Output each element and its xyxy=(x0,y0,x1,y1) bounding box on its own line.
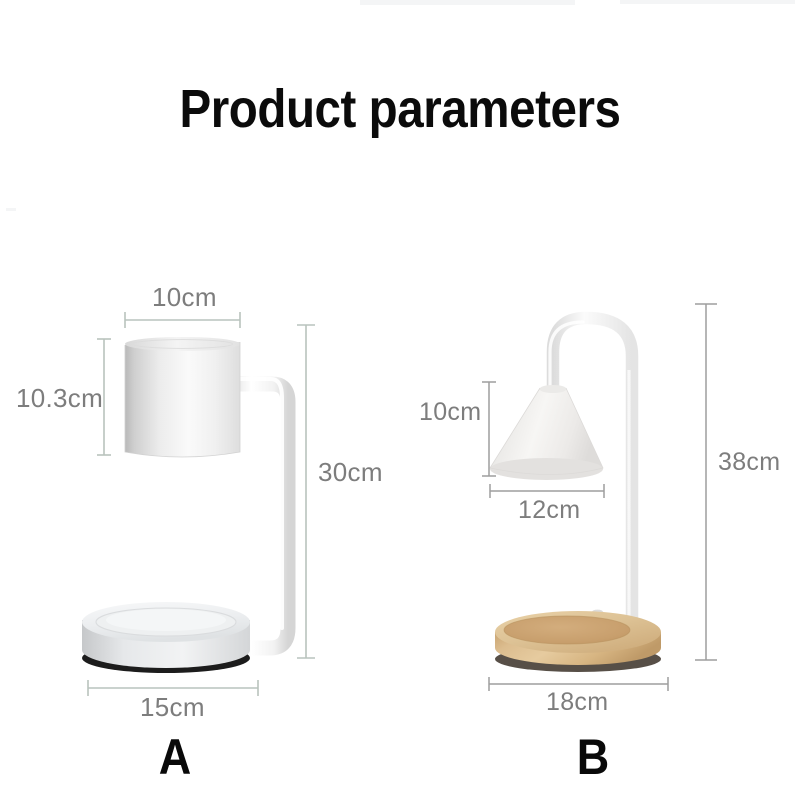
lamp-b-base xyxy=(495,610,661,672)
dimension-label-a-total-height: 30cm xyxy=(318,457,383,488)
variant-letter-a: A xyxy=(148,728,202,786)
lamp-b-gooseneck-arm xyxy=(550,318,632,632)
dimension-label-b-base-width: 18cm xyxy=(546,688,608,717)
scan-artifact xyxy=(620,0,795,4)
lamp-a-shade xyxy=(125,337,240,457)
dimension-label-b-shade-height: 10cm xyxy=(419,398,481,427)
scan-artifact xyxy=(360,0,575,5)
scan-artifact xyxy=(6,208,16,211)
lamp-a-base xyxy=(82,602,250,673)
dimension-label-a-shade-width: 10cm xyxy=(152,282,217,313)
lamp-a-arm xyxy=(232,379,288,648)
dimension-label-b-total-height: 38cm xyxy=(718,448,780,477)
dimension-label-b-shade-width: 12cm xyxy=(518,496,580,525)
dimension-label-a-base-width: 15cm xyxy=(140,692,205,723)
product-parameters-page: Product parameters xyxy=(0,0,800,800)
lamp-a-dimension-lines xyxy=(88,312,315,696)
variant-letter-b: B xyxy=(566,728,620,786)
dimension-label-a-shade-height: 10.3cm xyxy=(16,383,103,414)
lamp-b-shade xyxy=(490,385,603,480)
page-title: Product parameters xyxy=(48,78,752,140)
